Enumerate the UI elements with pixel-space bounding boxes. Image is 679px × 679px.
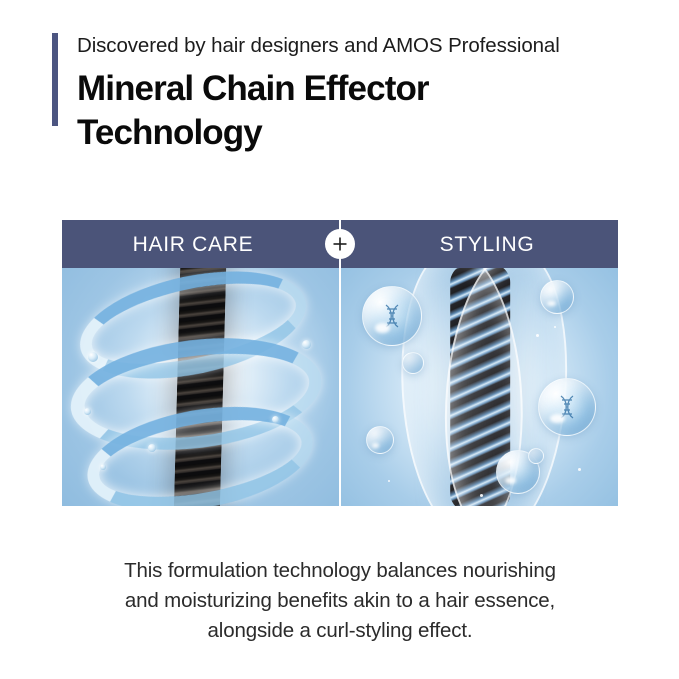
sparkle	[578, 468, 581, 471]
comparison-panel: HAIR CARE STYLING	[62, 220, 618, 506]
hair-care-artwork	[62, 268, 340, 506]
styling-label: STYLING	[440, 234, 535, 255]
bubble-glint	[372, 443, 379, 447]
header-text: Discovered by hair designers and AMOS Pr…	[52, 33, 652, 155]
caption-block: This formulation technology balances nou…	[62, 556, 618, 646]
plus-icon	[325, 229, 355, 259]
panel-divider	[339, 220, 341, 506]
sparkle	[480, 494, 483, 497]
caption-line-1: This formulation technology balances nou…	[62, 556, 618, 586]
caption-line-2: and moisturizing benefits akin to a hair…	[62, 586, 618, 616]
bubble-glint	[547, 301, 555, 306]
hair-care-label: HAIR CARE	[133, 234, 254, 255]
sparkle	[388, 480, 390, 482]
bubble-large	[362, 286, 422, 346]
water-droplet	[88, 352, 98, 362]
bubble-large	[538, 378, 596, 436]
marketing-infographic: Discovered by hair designers and AMOS Pr…	[0, 0, 679, 679]
eyebrow-text: Discovered by hair designers and AMOS Pr…	[77, 33, 652, 59]
accent-bar	[52, 33, 58, 126]
sparkle	[536, 334, 539, 337]
styling-section-header: STYLING	[340, 220, 618, 268]
page-title: Mineral Chain Effector Technology	[77, 67, 547, 155]
caption-line-3: alongside a curl-styling effect.	[62, 616, 618, 646]
water-droplet	[302, 340, 311, 349]
styling-artwork	[340, 268, 618, 506]
bubble-medium	[540, 280, 574, 314]
water-droplet	[100, 464, 106, 470]
sparkle	[554, 326, 556, 328]
bubble-glint	[505, 477, 516, 484]
plus-glyph	[332, 236, 348, 252]
bubble-glint	[375, 323, 390, 333]
hair-care-section-header: HAIR CARE	[62, 220, 340, 268]
bubble-small	[402, 352, 424, 374]
water-droplet	[84, 408, 91, 415]
water-droplet	[272, 416, 279, 423]
bubble-small	[366, 426, 394, 454]
bubble-glint	[550, 414, 565, 424]
header-block: Discovered by hair designers and AMOS Pr…	[52, 33, 652, 155]
bubble-small	[528, 448, 544, 464]
water-droplet	[148, 444, 156, 452]
